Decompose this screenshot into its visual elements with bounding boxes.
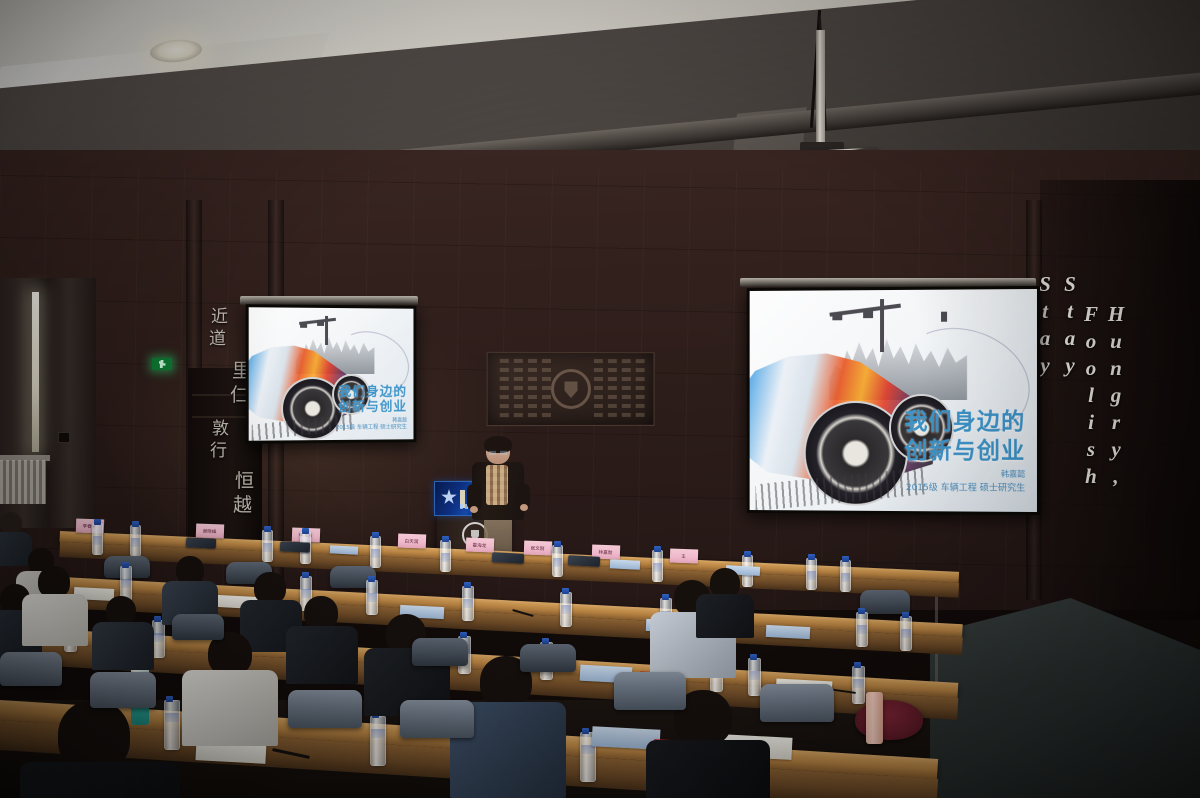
name-card-text: 霍海龙 bbox=[473, 542, 487, 549]
university-crest-icon bbox=[551, 369, 591, 409]
calligraphy-char: 行 bbox=[210, 442, 227, 459]
water-bottle bbox=[560, 592, 572, 627]
star-icon bbox=[441, 489, 457, 505]
audience-seat[interactable] bbox=[614, 672, 686, 710]
person-torso bbox=[20, 762, 180, 798]
wall-plaque bbox=[487, 352, 655, 426]
water-bottle bbox=[370, 716, 386, 766]
slide-presenter-name: 韩嘉懿 bbox=[392, 417, 407, 424]
person-head bbox=[304, 596, 338, 630]
water-bottle bbox=[552, 545, 563, 577]
screen-brand-label bbox=[1031, 279, 1032, 284]
projection-screen-right: 我们身边的 创新与创业 韩嘉懿 2015级 车辆工程 硕士研究生 bbox=[747, 286, 1040, 515]
water-bottle bbox=[806, 558, 817, 590]
presenter-scarf bbox=[486, 465, 508, 505]
exit-sign bbox=[152, 358, 172, 370]
presenter bbox=[468, 438, 528, 548]
wall-motto-stay-hungry-stay-foolish: Stay Stay Hungry, Foolish bbox=[1030, 272, 1150, 602]
projector-mount-pole bbox=[816, 30, 825, 150]
water-bottle bbox=[900, 616, 912, 651]
calligraphy-char: 越 bbox=[233, 496, 252, 515]
person-torso bbox=[92, 622, 154, 670]
tablet-device[interactable] bbox=[280, 541, 310, 553]
audience-seat[interactable] bbox=[520, 644, 576, 672]
person-head bbox=[0, 512, 22, 534]
name-card-text: 林嘉勋 bbox=[599, 549, 613, 556]
slide-traffic-light-box bbox=[832, 312, 842, 320]
plaque-inscription-column bbox=[500, 359, 509, 419]
screen-brand-label bbox=[413, 297, 414, 302]
presenter-hand bbox=[520, 504, 528, 511]
water-bottle bbox=[92, 523, 103, 555]
slide-title-line1: 我们身边的 bbox=[338, 384, 407, 399]
water-bottle bbox=[164, 700, 180, 750]
exit-running-person-icon bbox=[159, 360, 166, 368]
slide-traffic-light-box bbox=[941, 312, 947, 322]
water-bottle bbox=[366, 580, 378, 615]
water-bottle bbox=[462, 586, 474, 621]
person-torso bbox=[182, 670, 278, 746]
slide-traffic-light-box bbox=[301, 322, 308, 327]
plaque-inscription-column bbox=[594, 359, 603, 419]
plaque-inscription-column bbox=[528, 359, 537, 419]
water-bottle bbox=[852, 666, 865, 704]
person-torso bbox=[22, 594, 88, 646]
plaque-inscription-column bbox=[636, 359, 645, 419]
person-head bbox=[176, 556, 204, 584]
name-card-text: 张文刚 bbox=[531, 545, 545, 552]
projection-screen-left: 我们身边的 创新与创业 韩嘉懿 2015级 车辆工程 硕士研究生 bbox=[246, 304, 417, 444]
slide-presenter-name: 韩嘉懿 bbox=[1001, 469, 1025, 480]
window-light-strip bbox=[32, 292, 39, 452]
name-card: 张文刚 bbox=[524, 541, 552, 556]
water-bottle bbox=[262, 530, 273, 562]
plaque-inscription-column bbox=[608, 359, 617, 419]
plaque-inscription-column bbox=[622, 359, 631, 419]
calligraphy-char: 敦 bbox=[212, 420, 229, 437]
water-bottle bbox=[370, 536, 381, 568]
handout-paper bbox=[330, 545, 358, 554]
radiator bbox=[0, 460, 46, 504]
calligraphy-char: 近 bbox=[211, 308, 228, 325]
name-card-text: 白天润 bbox=[405, 538, 419, 545]
slide-traffic-light-box bbox=[863, 310, 873, 318]
audience-seat[interactable] bbox=[288, 690, 362, 728]
calligraphy-char: 恒 bbox=[235, 472, 254, 491]
person-torso bbox=[696, 594, 754, 638]
presenter-glasses bbox=[489, 450, 507, 455]
slide-title-line2: 创新与创业 bbox=[338, 400, 407, 416]
audience-seat[interactable] bbox=[860, 590, 910, 614]
audience-seat[interactable] bbox=[760, 684, 834, 722]
slide-traffic-light-box bbox=[317, 321, 324, 326]
slide-right: 我们身边的 创新与创业 韩嘉懿 2015级 车辆工程 硕士研究生 bbox=[750, 289, 1037, 512]
water-bottle bbox=[652, 550, 663, 582]
handout-paper bbox=[610, 559, 640, 570]
slide-title-line2: 创新与创业 bbox=[904, 438, 1025, 466]
person-torso bbox=[286, 626, 358, 684]
water-bottle bbox=[856, 612, 868, 647]
handout-paper bbox=[766, 625, 811, 639]
tablet-device[interactable] bbox=[186, 537, 216, 549]
audience-seat[interactable] bbox=[0, 652, 62, 686]
motto-column-right: Hungry, Foolish bbox=[1078, 302, 1128, 512]
audience-seat[interactable] bbox=[412, 638, 468, 666]
plaque-inscription-column bbox=[514, 359, 523, 419]
name-card: 王 bbox=[670, 549, 698, 564]
name-card-text: 谢晓峰 bbox=[203, 528, 217, 535]
person-torso bbox=[646, 740, 770, 798]
name-card: 白天润 bbox=[398, 534, 426, 549]
slide-presenter-info: 2015级 车辆工程 硕士研究生 bbox=[336, 425, 407, 433]
pink-thermos bbox=[866, 692, 883, 744]
presenter-hand bbox=[470, 506, 478, 513]
water-bottle bbox=[440, 540, 451, 572]
slide-presenter-info: 2015级 车辆工程 硕士研究生 bbox=[906, 483, 1025, 495]
calligraphy-char: 道 bbox=[209, 330, 226, 347]
plaque-inscription-column bbox=[542, 359, 551, 419]
slide-left: 我们身边的 创新与创业 韩嘉懿 2015级 车辆工程 硕士研究生 bbox=[249, 307, 414, 441]
name-card: 霍海龙 bbox=[466, 538, 494, 553]
audience-seat[interactable] bbox=[400, 700, 474, 738]
water-bottle bbox=[130, 525, 141, 557]
audience-seat[interactable] bbox=[172, 614, 224, 640]
tablet-device[interactable] bbox=[492, 552, 524, 564]
water-bottle bbox=[840, 560, 851, 592]
light-switch[interactable] bbox=[58, 432, 70, 443]
water-bottle bbox=[748, 658, 761, 696]
name-card: 谢晓峰 bbox=[196, 524, 224, 539]
tablet-device[interactable] bbox=[568, 555, 600, 567]
slide-title-line1: 我们身边的 bbox=[904, 409, 1025, 436]
lecture-hall-photo: 近 道 里 仁 敦 行 恒 越 Stay Stay Hungry, Foolis… bbox=[0, 0, 1200, 798]
audience-seat[interactable] bbox=[90, 672, 156, 708]
name-card-text: 王 bbox=[682, 553, 687, 560]
aisle-partition-wall bbox=[930, 598, 1200, 798]
